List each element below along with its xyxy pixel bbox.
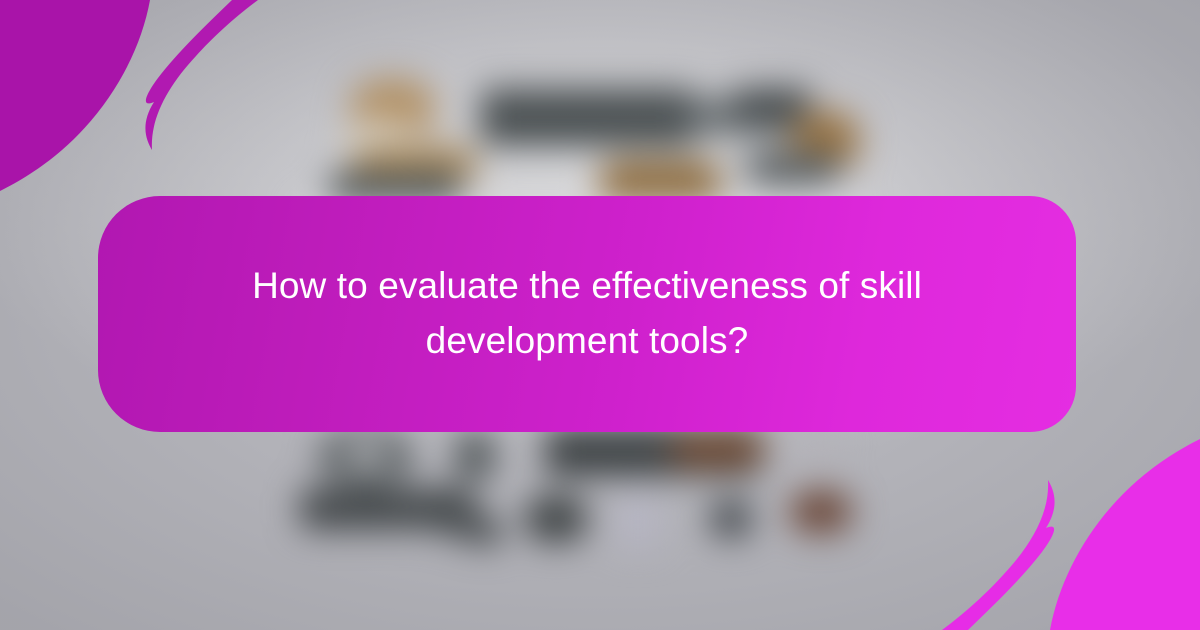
bg-shape-dark-lower-center	[455, 432, 495, 480]
bg-shape-ring-lower-left	[318, 428, 413, 486]
bg-shape-dark-bar-top-right	[690, 96, 795, 136]
promo-banner: How to evaluate the effectiveness of ski…	[0, 0, 1200, 630]
bg-shape-dark-bar-lower	[545, 428, 760, 476]
bg-shape-tan-mid-right	[790, 110, 860, 172]
bg-shape-tan-top-left	[350, 78, 435, 138]
headline-card: How to evaluate the effectiveness of ski…	[98, 196, 1076, 432]
bg-shape-pale-bottom-right	[790, 428, 838, 458]
bg-shape-tool-bottom-left	[300, 488, 475, 530]
bg-shape-brown-lower	[670, 430, 765, 468]
bg-shape-dark-block-right	[735, 88, 810, 120]
bg-shape-pale-bottom	[617, 496, 659, 548]
bg-shape-dot-bottom-a	[525, 495, 587, 543]
bg-shape-dark-bar-top	[480, 88, 695, 146]
bg-shape-dot-bottom-b	[710, 500, 752, 538]
bg-shape-tool-bottom-left-tail	[388, 490, 507, 551]
bg-shape-ring-hole	[348, 440, 384, 470]
bg-shape-dot-bottom-c	[790, 490, 852, 534]
bg-shape-light-top-left	[345, 120, 415, 165]
bg-shape-tan-mid-left	[352, 145, 477, 185]
headline-text: How to evaluate the effectiveness of ski…	[222, 259, 952, 369]
bg-shape-dark-mid-right	[745, 150, 840, 185]
